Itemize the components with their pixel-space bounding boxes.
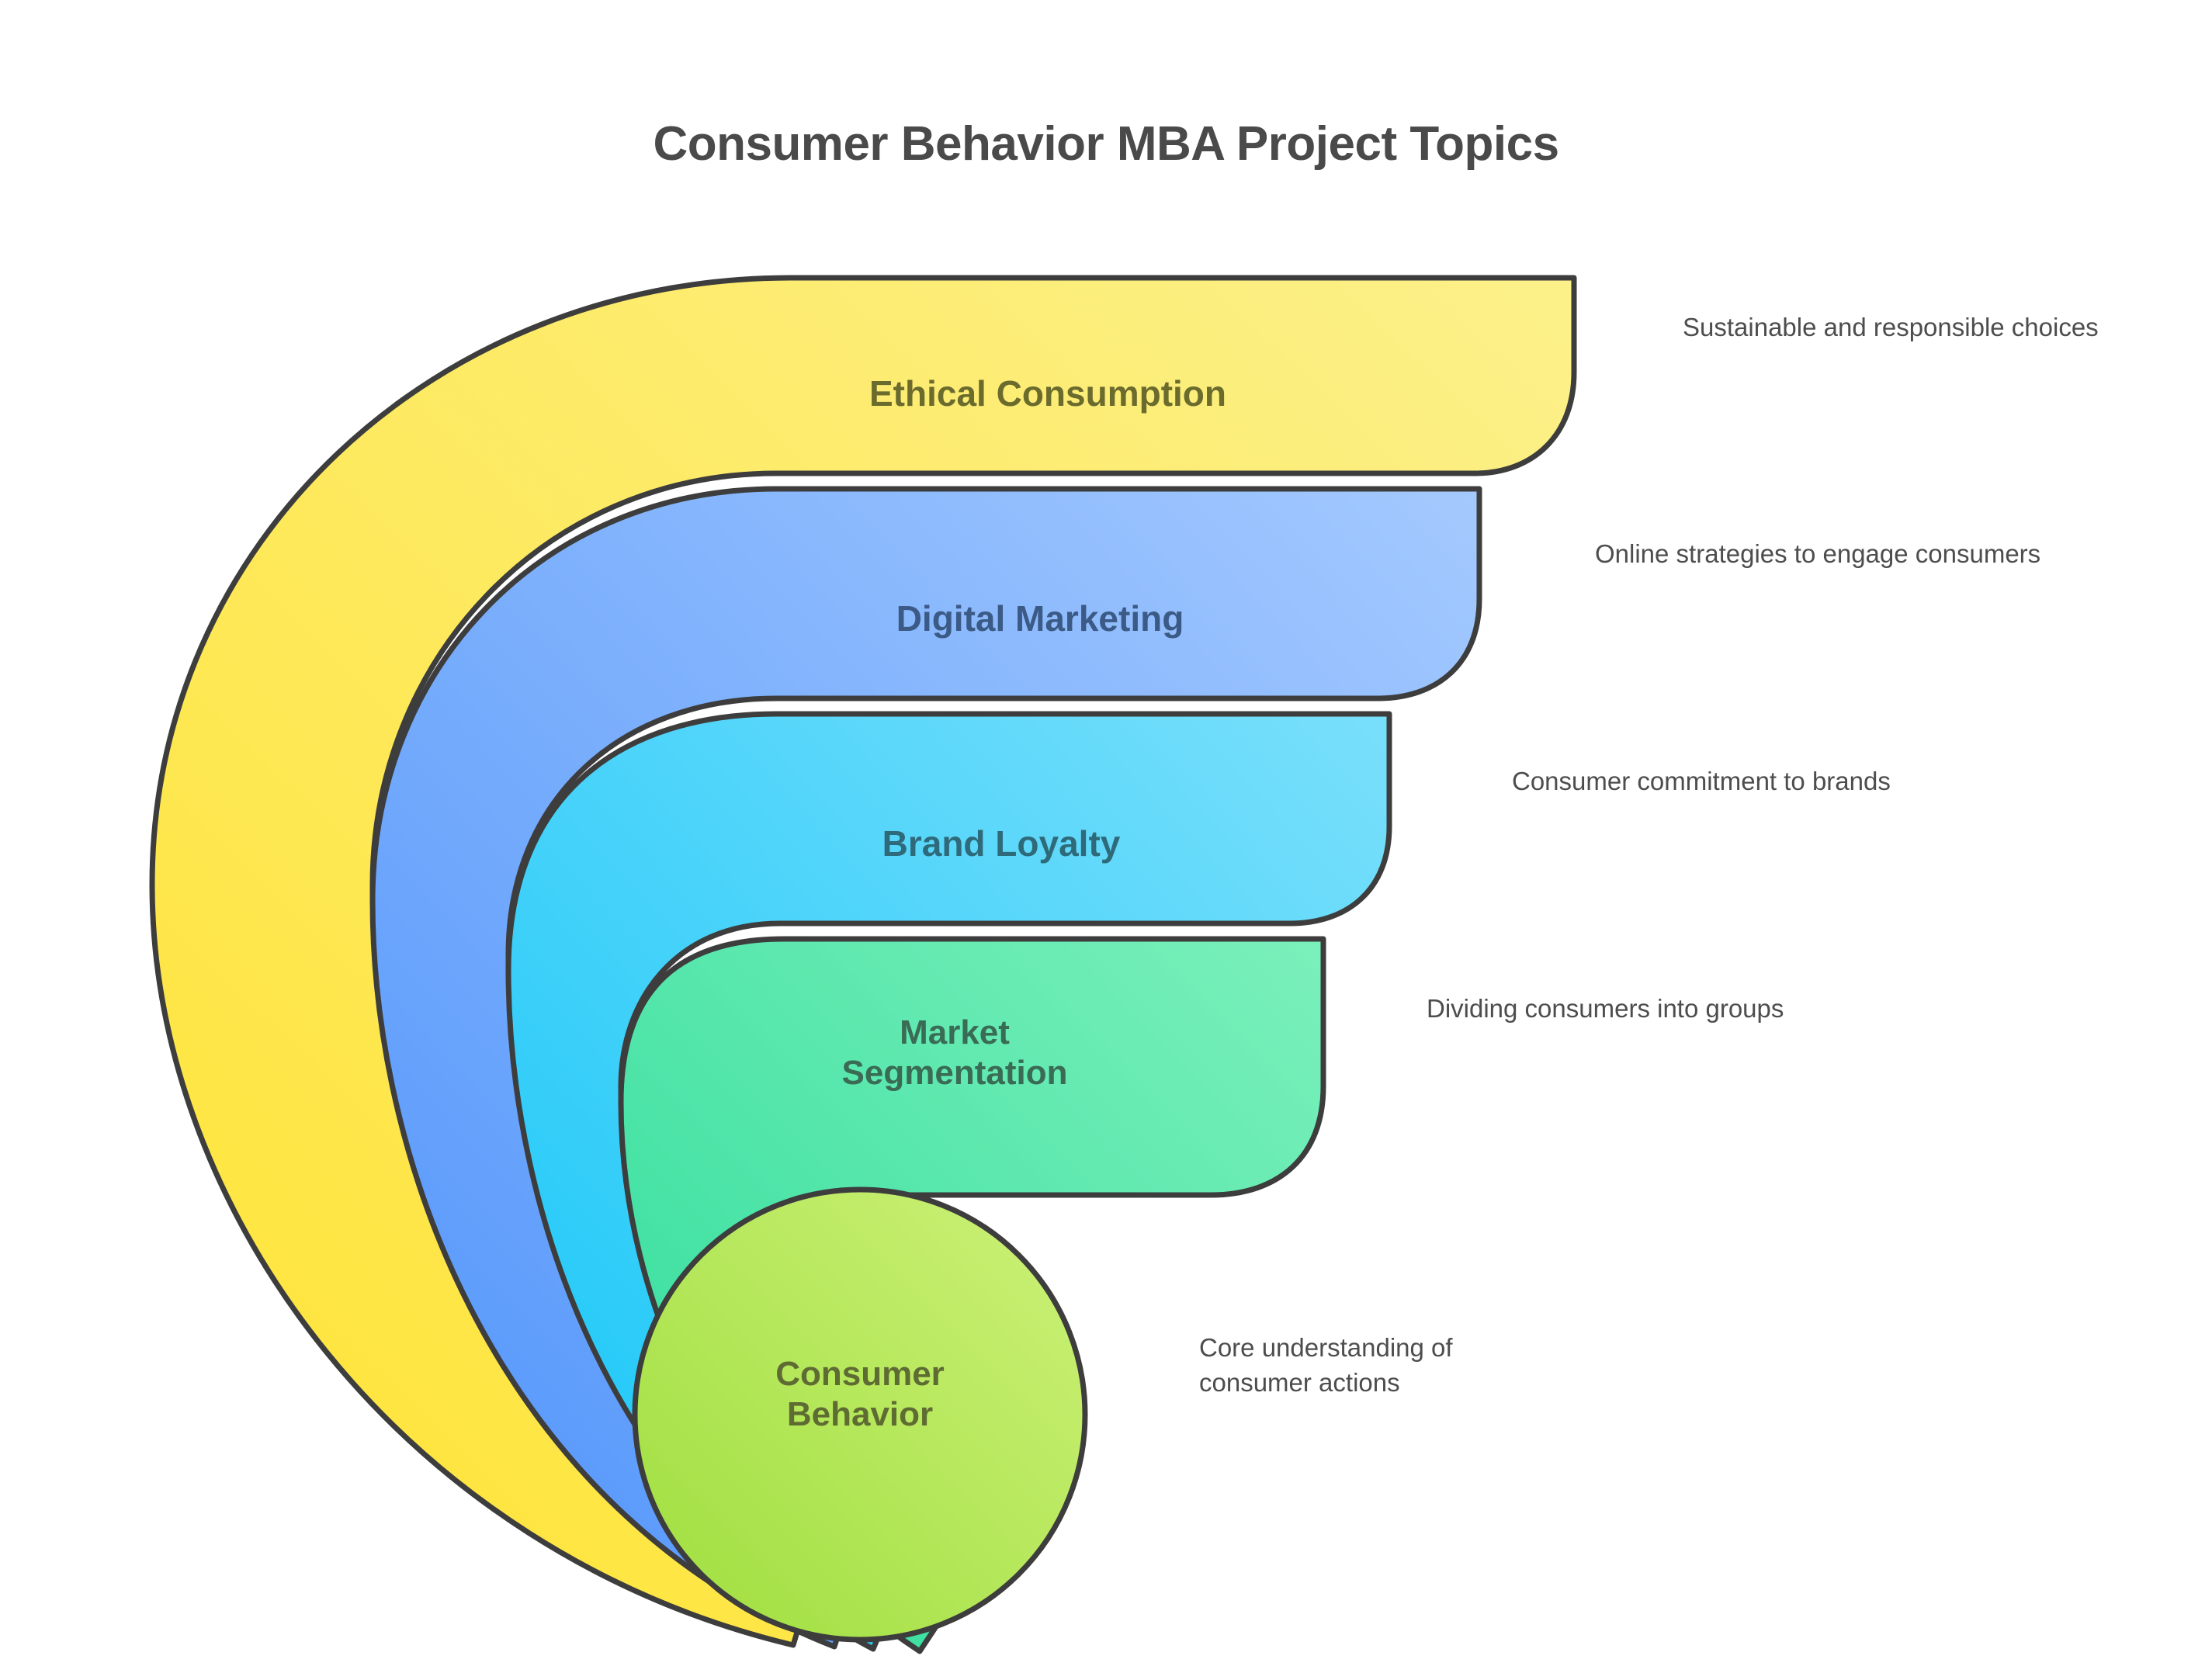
spiral-core-circle xyxy=(635,1190,1085,1640)
diagram-canvas: Consumer Behavior MBA Project Topics xyxy=(0,0,2212,1680)
band-3-note: Consumer commitment to brands xyxy=(1512,764,1962,799)
spiral-graphic xyxy=(0,0,2212,1680)
band-2-note: Online strategies to engage consumers xyxy=(1595,537,2045,572)
band-5-note: Core understanding of consumer actions xyxy=(1199,1331,1572,1400)
band-4-note: Dividing consumers into groups xyxy=(1427,992,1830,1027)
band-1-note: Sustainable and responsible choices xyxy=(1683,310,2148,345)
